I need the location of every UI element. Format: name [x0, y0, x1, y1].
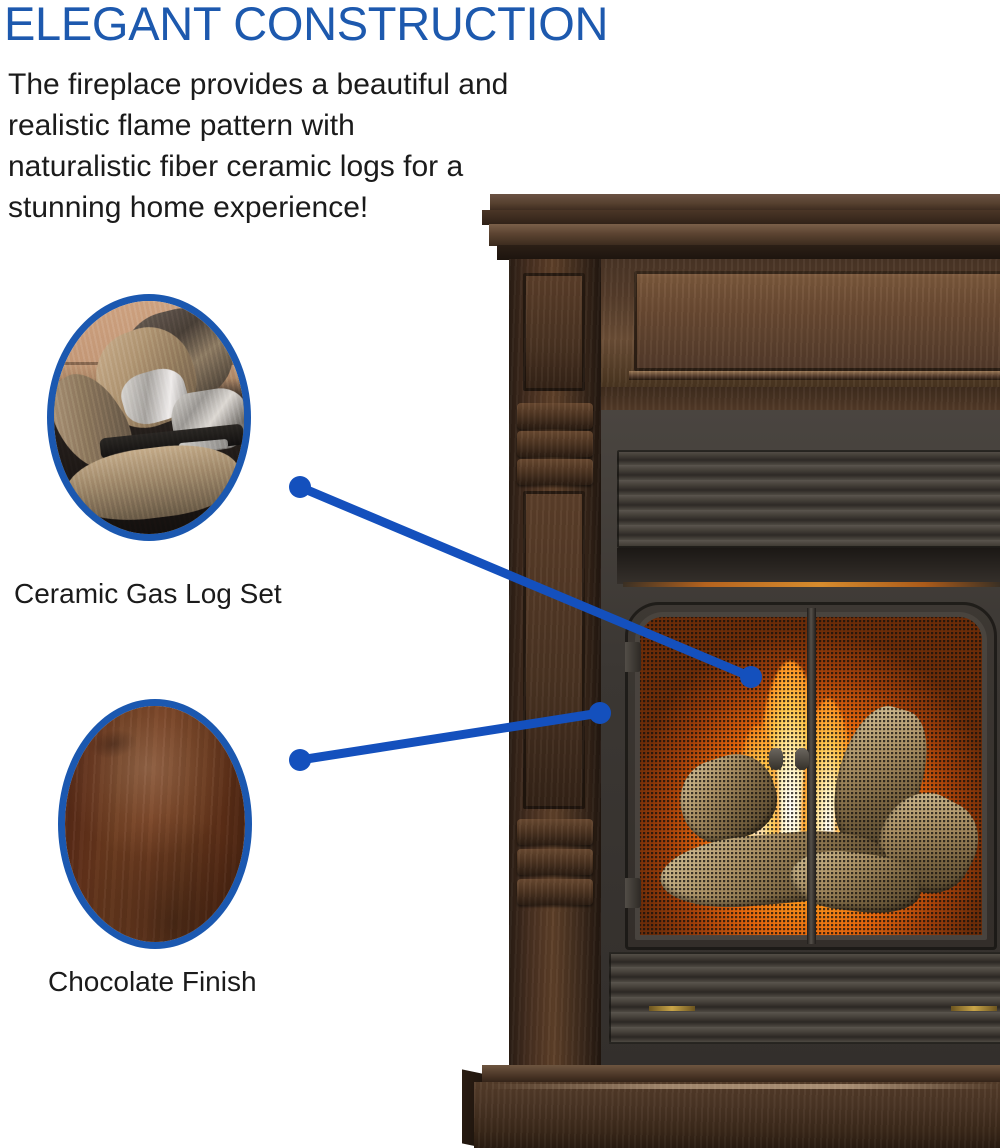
- ember-glow-strip: [623, 582, 1000, 587]
- wood-sheen-highlight: [65, 706, 245, 942]
- crown-molding-base: [497, 245, 1000, 260]
- callout-label-chocolate-finish: Chocolate Finish: [48, 966, 257, 998]
- hearth-base-highlight: [486, 1084, 1000, 1089]
- description-line-2: realistic flame pattern with: [8, 105, 608, 146]
- brass-accent-left: [649, 1006, 695, 1011]
- hearth-base: [474, 1082, 1000, 1148]
- door-hinge: [625, 642, 641, 672]
- lower-louver-grille: [609, 952, 1000, 1044]
- door-handle-left[interactable]: [769, 748, 783, 770]
- crown-molding-ogee: [489, 224, 1000, 246]
- frieze-inset-panel: [634, 271, 1000, 371]
- pilaster-inset-panel: [523, 491, 585, 809]
- leader-dot-start: [289, 476, 311, 498]
- frieze-bead-molding: [629, 371, 1000, 380]
- pilaster-column: [509, 259, 601, 1069]
- wood-grain-texture: [474, 1082, 1000, 1148]
- corbel-block: [517, 431, 593, 457]
- door-handle-right[interactable]: [795, 748, 809, 770]
- swatch-chocolate-finish[interactable]: [58, 699, 252, 949]
- upper-louver-shadow: [617, 548, 1000, 584]
- description-line-3: naturalistic fiber ceramic logs for a: [8, 146, 608, 187]
- swatch-photo-ceramic-logs: [54, 301, 244, 534]
- callout-label-ceramic-gas-log-set: Ceramic Gas Log Set: [14, 578, 282, 610]
- corbel-block: [517, 849, 593, 875]
- corbel-block: [517, 403, 593, 429]
- page-title: ELEGANT CONSTRUCTION: [4, 0, 608, 51]
- swatch-wood-finish: [65, 706, 245, 942]
- upper-louver-grille: [617, 450, 1000, 548]
- leader-dot-start: [289, 749, 311, 771]
- door-hinge: [625, 878, 641, 908]
- crown-molding-shadow: [482, 210, 1000, 225]
- corbel-block: [517, 879, 593, 905]
- brass-accent-right: [951, 1006, 997, 1011]
- arched-glass-doors: [625, 602, 997, 950]
- description-line-1: The fireplace provides a beautiful and: [8, 64, 608, 105]
- door-center-mullion: [807, 608, 816, 944]
- firebox-surround: [601, 410, 1000, 1065]
- pilaster-inset-panel: [523, 273, 585, 391]
- hearth-base-top-edge: [482, 1065, 1000, 1083]
- corbel-block: [517, 459, 593, 485]
- photo-texture-overlay: [54, 301, 244, 534]
- fireplace-product-photo: [462, 194, 1000, 954]
- crown-molding-top: [490, 194, 1000, 211]
- infographic-canvas: ELEGANT CONSTRUCTION The fireplace provi…: [0, 0, 1000, 1000]
- corbel-block: [517, 819, 593, 845]
- swatch-ceramic-gas-log-set[interactable]: [47, 294, 251, 541]
